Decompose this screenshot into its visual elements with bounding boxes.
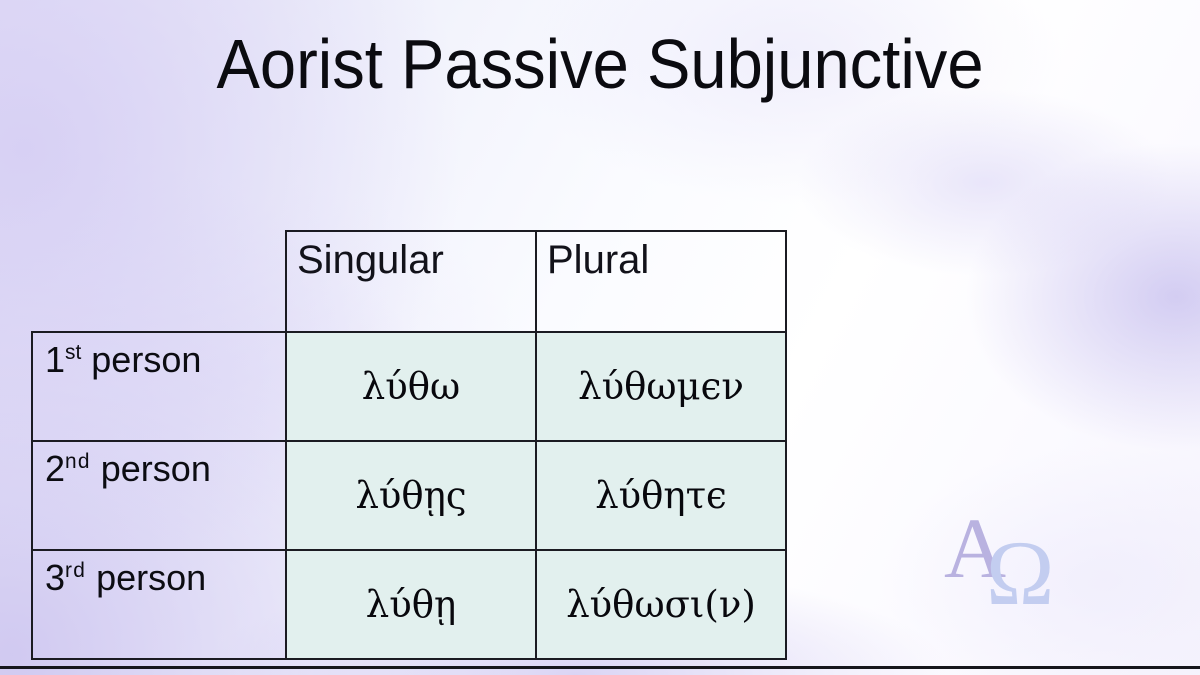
- column-header-singular: Singular: [286, 231, 536, 332]
- table-header-row: Singular Plural: [32, 231, 786, 332]
- bottom-divider: [0, 666, 1200, 669]
- form-second-person-singular: λύθῃς: [286, 441, 536, 550]
- row-ordinal-suffix: st: [65, 341, 81, 364]
- row-ordinal-number: 1: [45, 339, 65, 380]
- row-label-first-person: 1st person: [32, 332, 286, 441]
- row-label-third-person: 3rd person: [32, 550, 286, 659]
- form-first-person-plural: λύθωμϵν: [536, 332, 786, 441]
- row-label-text: person: [86, 557, 206, 598]
- verb-paradigm-table: Singular Plural 1st person λύθω λύθωμϵν …: [31, 230, 787, 660]
- row-label-text: person: [81, 339, 201, 380]
- slide-canvas: Aorist Passive Subjunctive Singular Plur…: [0, 0, 1200, 675]
- table-corner-cell: [32, 231, 286, 332]
- form-third-person-plural: λύθωσι(ν): [536, 550, 786, 659]
- table-row: 2nd person λύθῃς λύθητϵ: [32, 441, 786, 550]
- page-title: Aorist Passive Subjunctive: [42, 28, 1158, 102]
- row-ordinal-number: 2: [45, 448, 65, 489]
- form-first-person-singular: λύθω: [286, 332, 536, 441]
- table-row: 3rd person λύθῃ λύθωσι(ν): [32, 550, 786, 659]
- table-row: 1st person λύθω λύθωμϵν: [32, 332, 786, 441]
- row-ordinal-suffix: rd: [65, 559, 86, 582]
- column-header-plural: Plural: [536, 231, 786, 332]
- row-label-second-person: 2nd person: [32, 441, 286, 550]
- form-third-person-singular: λύθῃ: [286, 550, 536, 659]
- row-ordinal-suffix: nd: [65, 450, 91, 473]
- form-second-person-plural: λύθητϵ: [536, 441, 786, 550]
- row-ordinal-number: 3: [45, 557, 65, 598]
- row-label-text: person: [91, 448, 211, 489]
